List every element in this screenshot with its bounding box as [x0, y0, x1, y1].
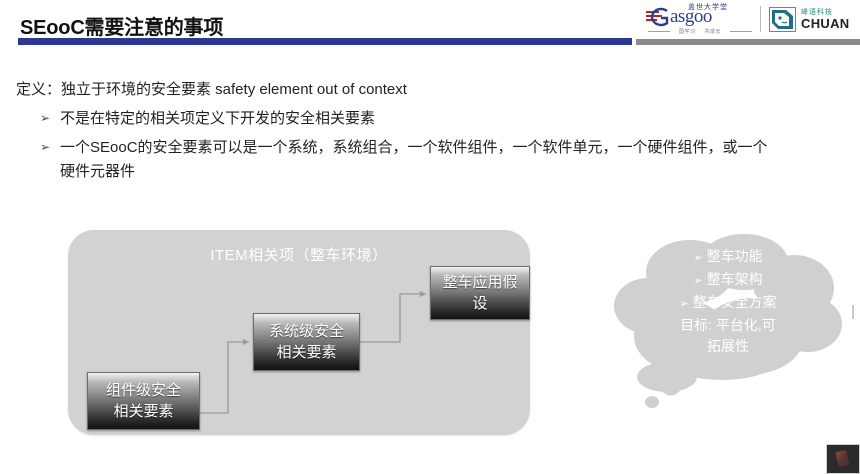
gasgoo-tagline-rule-left	[648, 31, 670, 32]
definition-line: 定义：独立于环境的安全要素 safety element out of cont…	[16, 78, 407, 99]
bullet-text-1: 不是在特定的相关项定义下开发的安全相关要素	[60, 107, 375, 131]
bullet-text-2: 一个SEooC的安全要素可以是一个系统，系统组合，一个软件组件，一个软件单元，一…	[60, 136, 780, 184]
gasgoo-tagline: 国学习 共成长	[648, 28, 752, 35]
node-system-label: 系统级安全 相关要素	[269, 321, 344, 363]
title-underline-secondary	[636, 39, 860, 45]
item-panel-label: ITEM相关项（整车环境）	[68, 244, 530, 265]
bullet-item-2: ➢ 一个SEooC的安全要素可以是一个系统，系统组合，一个软件组件，一个软件单元…	[40, 136, 780, 184]
thought-cloud-text: ➢整车功能 ➢整车架构 ➢整车安全方案 目标: 平台化,可 拓展性	[622, 246, 834, 357]
cloud-line-3: ➢整车安全方案	[622, 292, 834, 315]
gasgoo-g-icon	[645, 6, 741, 28]
node-vehicle-label: 整车应用假 设	[442, 272, 517, 314]
logo-bar: 盖世大学堂 asgoo 国学习 共成长 峰语科技 CHU	[638, 0, 860, 38]
gasgoo-tagline-rule-right	[730, 31, 752, 32]
node-component-label: 组件级安全 相关要素	[106, 380, 181, 422]
cloud-line-2: ➢整车架构	[622, 269, 834, 292]
cloud-line-3-text: 整车安全方案	[693, 294, 777, 310]
right-edge-marker	[852, 305, 854, 319]
gasgoo-tagline-right: 共成长	[704, 28, 721, 35]
title-underline-primary	[18, 38, 632, 45]
cloud-bullet-icon: ➢	[693, 275, 702, 287]
cloud-line-5: 拓展性	[622, 336, 834, 357]
video-thumbnail[interactable]	[826, 444, 860, 474]
chuan-text: 峰语科技 CHUAN	[801, 8, 849, 31]
gasgoo-tagline-left: 国学习	[679, 28, 696, 35]
chuan-logo-icon: 峰语科技 CHUAN	[769, 2, 855, 36]
cloud-line-2-text: 整车架构	[707, 271, 763, 287]
chuan-wordmark: CHUAN	[801, 17, 849, 31]
bullet-marker-icon: ➢	[40, 136, 60, 158]
cloud-line-4: 目标: 平台化,可	[622, 315, 834, 336]
bullet-item-1: ➢ 不是在特定的相关项定义下开发的安全相关要素	[40, 107, 375, 131]
page-title: SEooC需要注意的事项	[20, 11, 223, 40]
logo-divider	[760, 6, 761, 32]
node-component-level: 组件级安全 相关要素	[87, 372, 200, 430]
cloud-bullet-icon: ➢	[679, 298, 688, 310]
cloud-line-1-text: 整车功能	[707, 248, 763, 264]
chuan-face-icon	[769, 7, 796, 32]
thought-cloud: ➢整车功能 ➢整车架构 ➢整车安全方案 目标: 平台化,可 拓展性	[612, 232, 844, 424]
thumbnail-figure-icon	[836, 450, 850, 467]
gasgoo-logo-icon: 盖世大学堂 asgoo 国学习 共成长	[644, 1, 756, 37]
node-vehicle-assumption: 整车应用假 设	[430, 266, 530, 320]
cloud-bullet-icon: ➢	[693, 252, 702, 264]
node-system-level: 系统级安全 相关要素	[253, 313, 360, 371]
cloud-line-1: ➢整车功能	[622, 246, 834, 269]
bullet-marker-icon: ➢	[40, 107, 60, 129]
gasgoo-wordmark: asgoo	[658, 7, 712, 26]
